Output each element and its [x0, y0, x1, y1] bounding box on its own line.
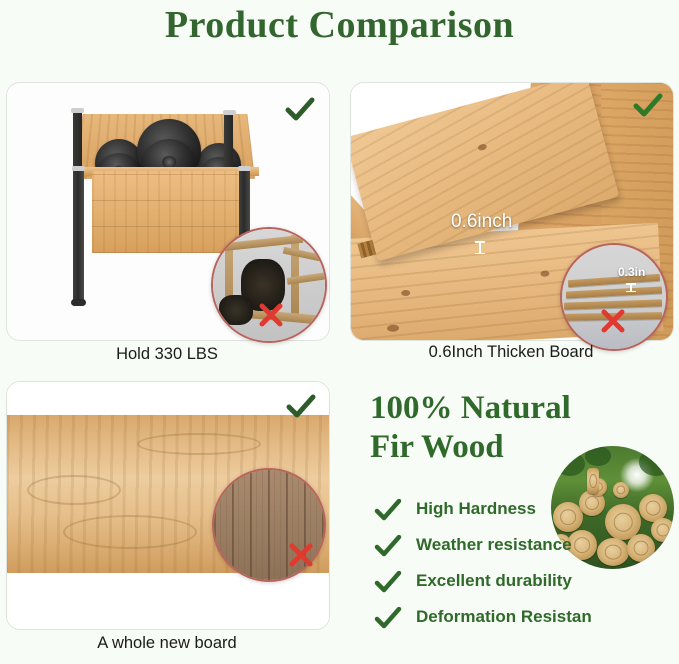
check-icon — [285, 97, 315, 123]
planter-leg — [73, 169, 84, 303]
check-icon — [374, 607, 402, 636]
feature-item: Excellent durability — [374, 569, 674, 598]
cross-icon — [288, 543, 314, 567]
dimension-marker — [479, 241, 481, 254]
page-title: Product Comparison — [0, 3, 679, 47]
wood-grain-swirl — [27, 475, 121, 505]
check-icon — [374, 535, 402, 564]
log — [613, 482, 629, 498]
feature-item: Weather resistance — [374, 533, 674, 562]
feature-label: High Hardness — [416, 499, 536, 519]
wood-knot — [477, 143, 487, 151]
planter-foot — [71, 299, 86, 306]
foliage — [585, 446, 611, 466]
planter-corner-post — [224, 113, 233, 171]
dimension-label-thin: 0.3in — [618, 265, 645, 279]
check-icon — [374, 571, 402, 600]
feature-heading-line1: 100% Natural — [370, 389, 670, 428]
wood-grain-swirl — [137, 433, 261, 455]
check-icon — [286, 394, 316, 420]
dimension-marker — [630, 283, 632, 292]
check-icon — [633, 93, 663, 119]
feature-item: High Hardness — [374, 497, 674, 526]
panel-caption: 0.6Inch Thicken Board — [350, 343, 672, 362]
planter-corner-post — [73, 111, 82, 173]
post-cap — [223, 110, 236, 115]
panel-caption: A whole new board — [6, 634, 328, 653]
feature-label: Weather resistance — [416, 535, 572, 555]
product-comparison-infographic: Product Comparison — [0, 0, 679, 664]
wood-grain-swirl — [63, 515, 197, 549]
cross-icon — [600, 309, 626, 333]
post-cap — [238, 166, 251, 171]
foliage — [555, 452, 585, 476]
inset-bad-example-thin-boards: 0.3in — [560, 243, 668, 351]
cross-icon — [258, 303, 284, 327]
wood-knot — [387, 324, 399, 332]
panel-caption: Hold 330 LBS — [6, 345, 328, 364]
spilled-soil — [219, 295, 253, 325]
feature-label: Deformation Resistan — [416, 607, 592, 627]
dimension-label-thick: 0.6inch — [451, 211, 512, 233]
wood-knot — [540, 270, 549, 276]
feature-item: Deformation Resistan — [374, 605, 674, 634]
check-icon — [374, 499, 402, 528]
log — [587, 468, 599, 494]
post-cap — [71, 108, 84, 113]
feature-label: Excellent durability — [416, 571, 572, 591]
feature-list: High Hardness Weather resistance Excelle… — [374, 497, 674, 641]
post-cap — [72, 166, 85, 171]
wood-knot — [401, 290, 410, 296]
foliage — [639, 448, 673, 476]
